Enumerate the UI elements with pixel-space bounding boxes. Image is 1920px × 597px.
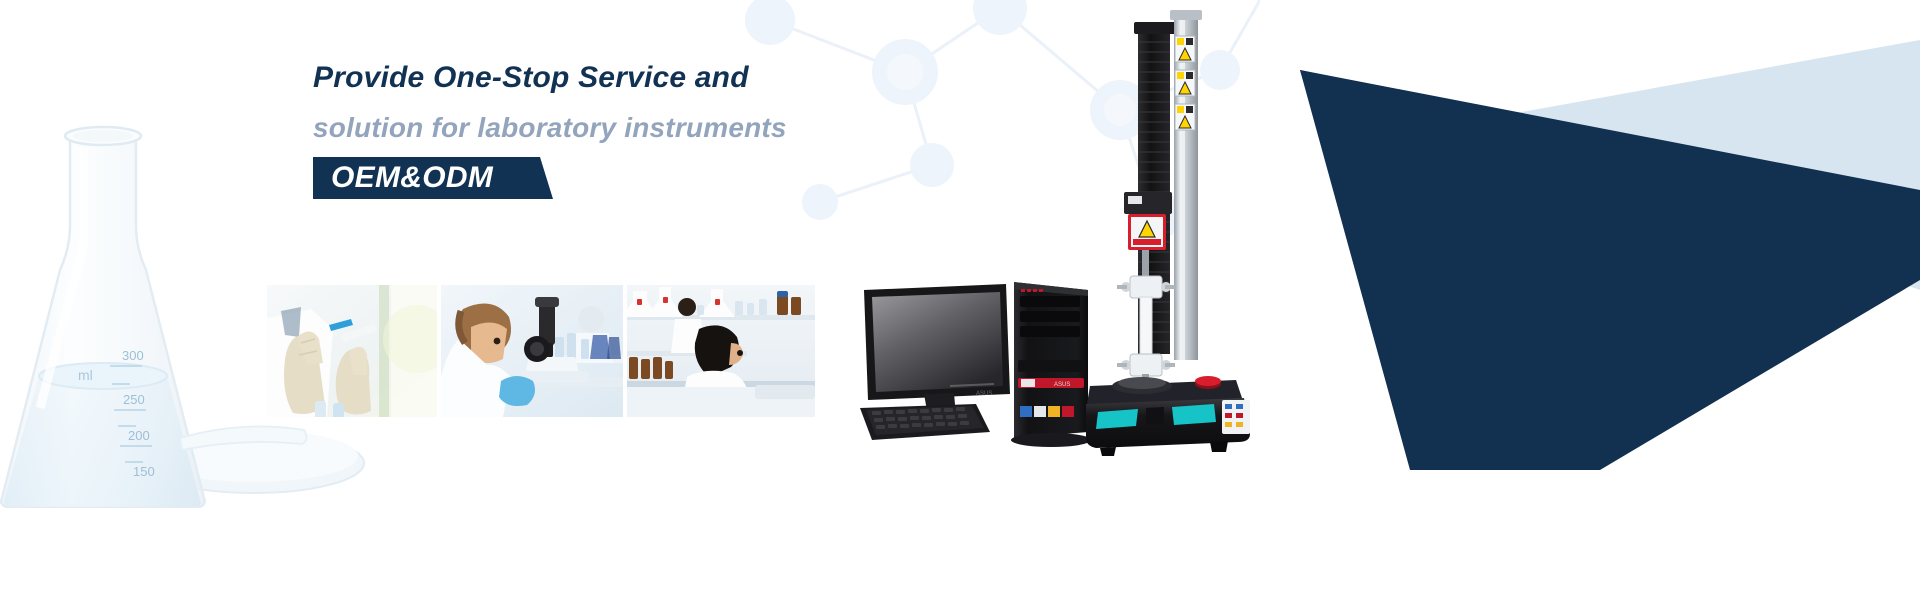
upper-grip bbox=[1117, 250, 1175, 298]
arrow-decoration bbox=[1300, 0, 1920, 470]
headline-line-1: Provide One-Stop Service and bbox=[313, 58, 1073, 99]
flask-graduations: 300 250 200 150 ml bbox=[78, 348, 155, 479]
universal-tensile-testing-machine bbox=[1086, 8, 1306, 456]
flask-rim bbox=[65, 127, 141, 145]
lower-grip bbox=[1117, 354, 1175, 388]
keyboard bbox=[860, 404, 990, 440]
flask-glass bbox=[1, 136, 204, 508]
promo-banner: 300 250 200 150 ml Provide One-Stop Serv… bbox=[0, 0, 1920, 597]
headline-line-2: solution for laboratory instruments bbox=[313, 109, 1073, 147]
warning-labels bbox=[1175, 36, 1195, 130]
tower: ASUS bbox=[1011, 282, 1091, 447]
arrow-dark-tip bbox=[1300, 70, 1730, 470]
arrow-light bbox=[1450, 40, 1920, 290]
badge-label: OEM&ODM bbox=[331, 161, 493, 195]
flask-liquid bbox=[4, 376, 201, 508]
photo-laboratory-benchwork[interactable] bbox=[627, 285, 815, 417]
load-cell bbox=[1124, 192, 1172, 250]
photo-pipetting-gloved-hands[interactable] bbox=[267, 285, 437, 417]
base-unit bbox=[1086, 376, 1250, 456]
petri-dish bbox=[144, 433, 364, 493]
svg-text:ASUS: ASUS bbox=[976, 391, 992, 397]
monitor: ASUS bbox=[864, 284, 1010, 429]
column bbox=[1138, 32, 1170, 354]
oem-odm-badge[interactable]: OEM&ODM bbox=[313, 157, 553, 199]
svg-text:ml: ml bbox=[78, 367, 93, 383]
liquid-surface bbox=[39, 363, 167, 389]
headline-block: Provide One-Stop Service and solution fo… bbox=[313, 58, 1073, 199]
desktop-computer: ASUS bbox=[858, 282, 1188, 454]
specimen bbox=[1140, 297, 1152, 357]
svg-text:300: 300 bbox=[122, 348, 144, 363]
svg-text:ASUS: ASUS bbox=[1054, 382, 1070, 388]
svg-text:200: 200 bbox=[128, 428, 150, 443]
arrow-dark bbox=[1300, 70, 1920, 470]
guide-rail bbox=[1174, 16, 1198, 360]
stirring-rod bbox=[180, 426, 307, 450]
photo-strip bbox=[267, 285, 815, 417]
svg-text:250: 250 bbox=[123, 392, 145, 407]
photo-microscope-technician[interactable] bbox=[441, 285, 623, 417]
svg-text:150: 150 bbox=[133, 464, 155, 479]
